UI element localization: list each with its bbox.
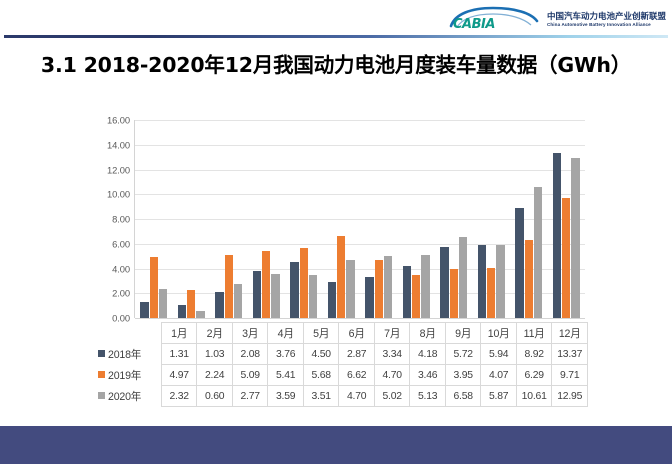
table-cell: 5.09	[232, 365, 268, 386]
table-cell: 4.50	[303, 344, 339, 365]
table-cell: 5.72	[445, 344, 481, 365]
bar-2020年-4月[interactable]	[271, 274, 279, 318]
bar-group	[285, 120, 323, 318]
bar-2018年-1月[interactable]	[140, 302, 148, 318]
table-cell: 5.68	[303, 365, 339, 386]
bar-group	[473, 120, 511, 318]
bar-2019年-4月[interactable]	[262, 251, 270, 318]
bar-groups	[135, 120, 585, 318]
plot-area	[134, 120, 584, 318]
bar-2020年-10月[interactable]	[496, 245, 504, 318]
bar-2020年-5月[interactable]	[309, 275, 317, 318]
table-cell: 3.51	[303, 386, 339, 407]
table-cell: 3.76	[268, 344, 304, 365]
bar-2018年-2月[interactable]	[178, 305, 186, 318]
table-cell: 13.37	[552, 344, 588, 365]
bar-2020年-3月[interactable]	[234, 284, 242, 318]
bar-2019年-10月[interactable]	[487, 268, 495, 318]
table-col-header: 9月	[445, 323, 481, 344]
bar-2018年-12月[interactable]	[553, 153, 561, 318]
table-cell: 2.32	[161, 386, 197, 407]
legend-swatch-icon	[98, 350, 105, 357]
table-cell: 8.92	[516, 344, 552, 365]
logo-title-cn: 中国汽车动力电池产业创新联盟	[547, 11, 666, 21]
table-header-row: 1月2月3月4月5月6月7月8月9月10月11月12月	[96, 323, 588, 344]
legend-item-2018年: 2018年	[96, 344, 161, 365]
bar-2018年-5月[interactable]	[290, 262, 298, 318]
table-col-header: 5月	[303, 323, 339, 344]
bar-group	[435, 120, 473, 318]
bar-2018年-4月[interactable]	[253, 271, 261, 318]
table-cell: 10.61	[516, 386, 552, 407]
table-col-header: 8月	[410, 323, 446, 344]
bar-2019年-6月[interactable]	[337, 236, 345, 318]
y-axis-tick-label: 16.00	[107, 115, 130, 126]
table-cell: 4.18	[410, 344, 446, 365]
legend-swatch-icon	[98, 371, 105, 378]
bar-group	[510, 120, 548, 318]
table-cell: 5.87	[481, 386, 517, 407]
bar-2019年-12月[interactable]	[562, 198, 570, 318]
header-divider	[4, 35, 668, 38]
table-cell: 6.29	[516, 365, 552, 386]
chart-container: 16.0014.0012.0010.008.006.004.002.000.00…	[96, 114, 592, 406]
table-cell: 12.95	[552, 386, 588, 407]
y-axis-tick-label: 10.00	[107, 189, 130, 200]
y-axis-tick-label: 14.00	[107, 139, 130, 150]
table-col-header: 1月	[161, 323, 197, 344]
cabia-logo-mark-icon: CABIA	[445, 6, 541, 32]
legend-item-2020年: 2020年	[96, 386, 161, 407]
table-cell: 4.70	[339, 386, 375, 407]
bar-2020年-1月[interactable]	[159, 289, 167, 318]
bar-2018年-9月[interactable]	[440, 247, 448, 318]
bar-2018年-11月[interactable]	[515, 208, 523, 318]
table-cell: 6.62	[339, 365, 375, 386]
table-cell: 2.24	[197, 365, 233, 386]
bar-2020年-12月[interactable]	[571, 158, 579, 318]
bar-2020年-9月[interactable]	[459, 237, 467, 318]
bar-2018年-8月[interactable]	[403, 266, 411, 318]
legend-label: 2019年	[108, 370, 141, 382]
table-cell: 3.34	[374, 344, 410, 365]
bar-group	[548, 120, 586, 318]
page-title: 3.1 2018-2020年12月我国动力电池月度装车量数据（GWh）	[0, 48, 672, 78]
table-col-header: 3月	[232, 323, 268, 344]
chart-plot-wrapper: 16.0014.0012.0010.008.006.004.002.000.00	[96, 114, 592, 324]
table-cell: 3.46	[410, 365, 446, 386]
table-col-header: 12月	[552, 323, 588, 344]
legend-label: 2018年	[108, 349, 141, 361]
bar-group	[248, 120, 286, 318]
legend-item-2019年: 2019年	[96, 365, 161, 386]
gridline	[135, 318, 585, 319]
table-row: 2018年1.311.032.083.764.502.873.344.185.7…	[96, 344, 588, 365]
y-axis: 16.0014.0012.0010.008.006.004.002.000.00	[96, 114, 134, 324]
bar-group	[360, 120, 398, 318]
bar-2019年-2月[interactable]	[187, 290, 195, 318]
bar-2019年-5月[interactable]	[300, 248, 308, 318]
table-cell: 5.02	[374, 386, 410, 407]
y-axis-tick-label: 6.00	[112, 238, 130, 249]
table-cell: 2.08	[232, 344, 268, 365]
bar-2019年-11月[interactable]	[525, 240, 533, 318]
bar-2019年-1月[interactable]	[150, 257, 158, 319]
table-col-header: 11月	[516, 323, 552, 344]
table-cell: 2.87	[339, 344, 375, 365]
bar-2020年-11月[interactable]	[534, 187, 542, 318]
bar-2019年-8月[interactable]	[412, 275, 420, 318]
table-row: 2020年2.320.602.773.593.514.705.025.136.5…	[96, 386, 588, 407]
table-col-header: 7月	[374, 323, 410, 344]
cabia-logo: CABIA 中国汽车动力电池产业创新联盟 China Automotive Ba…	[445, 6, 666, 32]
table-col-header: 4月	[268, 323, 304, 344]
table-cell: 5.13	[410, 386, 446, 407]
cabia-logo-text: 中国汽车动力电池产业创新联盟 China Automotive Battery …	[547, 11, 666, 28]
bar-2020年-7月[interactable]	[384, 256, 392, 318]
data-table: 1月2月3月4月5月6月7月8月9月10月11月12月 2018年1.311.0…	[96, 322, 588, 407]
legend-label: 2020年	[108, 391, 141, 403]
y-axis-tick-label: 8.00	[112, 214, 130, 225]
table-cell: 4.97	[161, 365, 197, 386]
bar-group	[323, 120, 361, 318]
table-cell: 3.95	[445, 365, 481, 386]
table-cell: 4.07	[481, 365, 517, 386]
bar-group	[210, 120, 248, 318]
svg-text:CABIA: CABIA	[453, 17, 495, 32]
legend-swatch-icon	[98, 392, 105, 399]
bar-2018年-10月[interactable]	[478, 245, 486, 319]
table-cell: 2.77	[232, 386, 268, 407]
table-cell: 1.03	[197, 344, 233, 365]
table-col-header: 2月	[197, 323, 233, 344]
table-corner-cell	[96, 323, 161, 344]
table-cell: 5.41	[268, 365, 304, 386]
logo-title-en: China Automotive Battery Innovation Alli…	[547, 21, 666, 28]
y-axis-tick-label: 2.00	[112, 288, 130, 299]
table-col-header: 10月	[481, 323, 517, 344]
table-cell: 1.31	[161, 344, 197, 365]
table-cell: 3.59	[268, 386, 304, 407]
table-row: 2019年4.972.245.095.415.686.624.703.463.9…	[96, 365, 588, 386]
table-cell: 4.70	[374, 365, 410, 386]
bar-2020年-2月[interactable]	[196, 311, 204, 318]
bar-2019年-7月[interactable]	[375, 260, 383, 318]
bar-2018年-6月[interactable]	[328, 282, 336, 318]
footer-band	[0, 426, 672, 464]
bar-2018年-3月[interactable]	[215, 292, 223, 318]
table-cell: 9.71	[552, 365, 588, 386]
table-cell: 5.94	[481, 344, 517, 365]
bar-group	[173, 120, 211, 318]
bar-2019年-9月[interactable]	[450, 269, 458, 318]
table-cell: 0.60	[197, 386, 233, 407]
bar-2018年-7月[interactable]	[365, 277, 373, 318]
page-header: CABIA 中国汽车动力电池产业创新联盟 China Automotive Ba…	[0, 0, 672, 40]
table-body: 2018年1.311.032.083.764.502.873.344.185.7…	[96, 344, 588, 407]
bar-group	[398, 120, 436, 318]
bar-2019年-3月[interactable]	[225, 255, 233, 318]
y-axis-tick-label: 4.00	[112, 263, 130, 274]
table-cell: 6.58	[445, 386, 481, 407]
bar-2020年-6月[interactable]	[346, 260, 354, 318]
y-axis-tick-label: 12.00	[107, 164, 130, 175]
table-col-header: 6月	[339, 323, 375, 344]
bar-2020年-8月[interactable]	[421, 255, 429, 318]
bar-group	[135, 120, 173, 318]
